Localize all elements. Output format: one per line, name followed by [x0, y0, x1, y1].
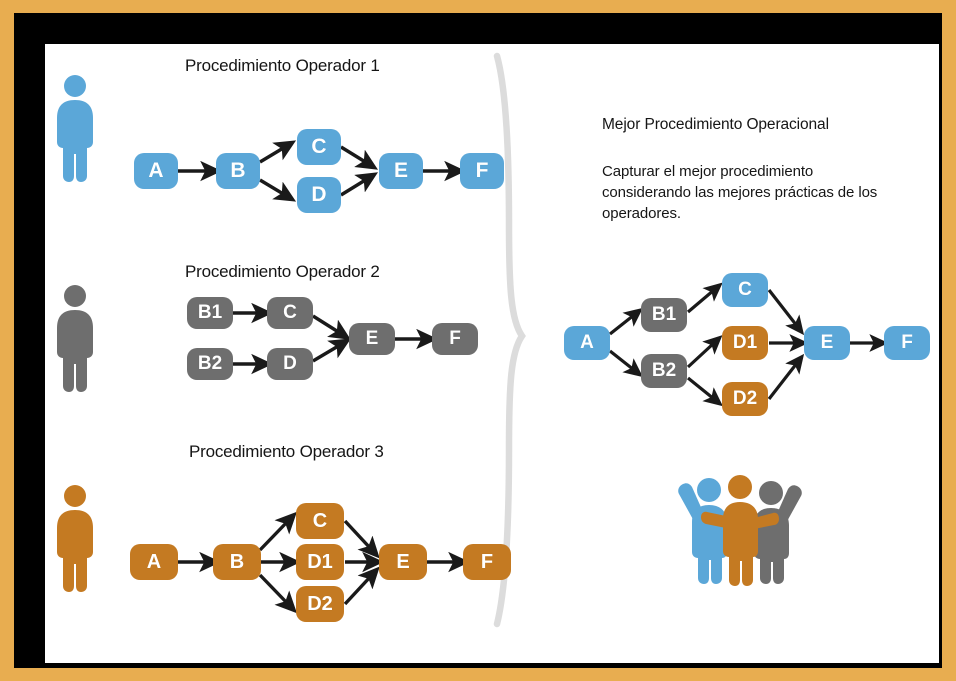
node-op1-D[interactable]: D [297, 177, 341, 213]
node-op2-B2[interactable]: B2 [187, 348, 233, 380]
team-group-icon [678, 475, 802, 586]
node-op2-D[interactable]: D [267, 348, 313, 380]
node-op1-B[interactable]: B [216, 153, 260, 189]
title-operator-2: Procedimiento Operador 2 [185, 262, 380, 282]
node-best-E[interactable]: E [804, 326, 850, 360]
person-icon-operator-2 [57, 285, 93, 392]
diagram-canvas: Procedimiento Operador 1 A B C D E F Pro… [45, 44, 939, 663]
node-op3-E[interactable]: E [379, 544, 427, 580]
node-best-B2[interactable]: B2 [641, 354, 687, 388]
flow-arrows-operator-2 [233, 313, 425, 364]
node-op1-E[interactable]: E [379, 153, 423, 189]
node-best-D2[interactable]: D2 [722, 382, 768, 416]
node-op2-C[interactable]: C [267, 297, 313, 329]
node-op1-A[interactable]: A [134, 153, 178, 189]
node-best-A[interactable]: A [564, 326, 610, 360]
person-icon-operator-1 [57, 75, 93, 182]
node-best-D1[interactable]: D1 [722, 326, 768, 360]
node-op3-D1[interactable]: D1 [296, 544, 344, 580]
node-op3-D2[interactable]: D2 [296, 586, 344, 622]
outer-gold-border: Procedimiento Operador 1 A B C D E F Pro… [0, 0, 956, 681]
title-operator-3: Procedimiento Operador 3 [189, 442, 384, 462]
inner-black-border: Procedimiento Operador 1 A B C D E F Pro… [14, 13, 942, 668]
person-icon-operator-3 [57, 485, 93, 592]
node-op3-B[interactable]: B [213, 544, 261, 580]
node-op1-F[interactable]: F [460, 153, 504, 189]
best-procedure-body: Capturar el mejor procedimiento consider… [602, 161, 902, 224]
node-op3-C[interactable]: C [296, 503, 344, 539]
node-op3-A[interactable]: A [130, 544, 178, 580]
node-op2-E[interactable]: E [349, 323, 395, 355]
node-best-B1[interactable]: B1 [641, 298, 687, 332]
node-best-F[interactable]: F [884, 326, 930, 360]
node-op2-F[interactable]: F [432, 323, 478, 355]
node-op3-F[interactable]: F [463, 544, 511, 580]
node-op1-C[interactable]: C [297, 129, 341, 165]
curly-brace-divider [497, 56, 522, 624]
node-op2-B1[interactable]: B1 [187, 297, 233, 329]
title-operator-1: Procedimiento Operador 1 [185, 56, 380, 76]
best-procedure-heading: Mejor Procedimiento Operacional [602, 116, 829, 134]
node-best-C[interactable]: C [722, 273, 768, 307]
